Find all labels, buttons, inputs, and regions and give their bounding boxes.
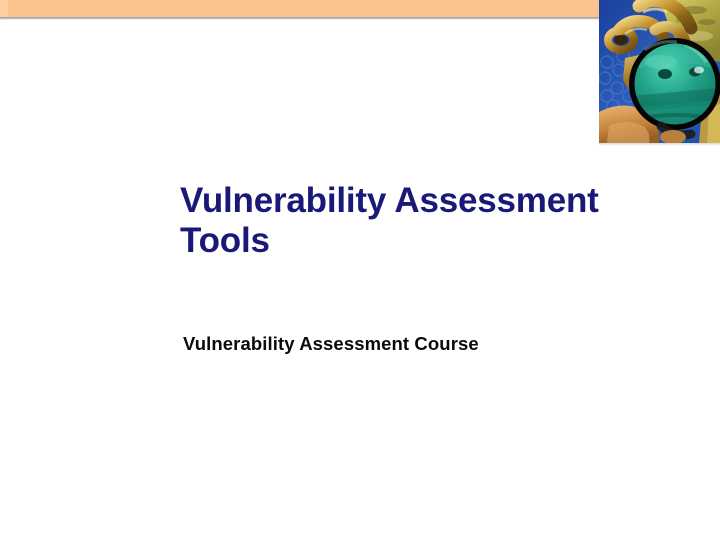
slide-body-empty-area [0,380,720,540]
banner-left-edge [0,0,8,17]
padlock-magnifier-illustration [599,0,720,143]
subtitle-placeholder: Vulnerability Assessment Course [183,332,663,356]
slide-title: Vulnerability Assessment Tools [180,181,680,261]
slide-subtitle: Vulnerability Assessment Course [183,332,663,356]
photo-drop-shadow [599,143,720,146]
top-accent-banner [0,0,599,17]
banner-drop-shadow [0,17,599,20]
presentation-slide: Vulnerability Assessment Tools Vulnerabi… [0,0,720,540]
title-placeholder: Vulnerability Assessment Tools [180,181,680,261]
padlock-magnifier-photo [599,0,720,143]
